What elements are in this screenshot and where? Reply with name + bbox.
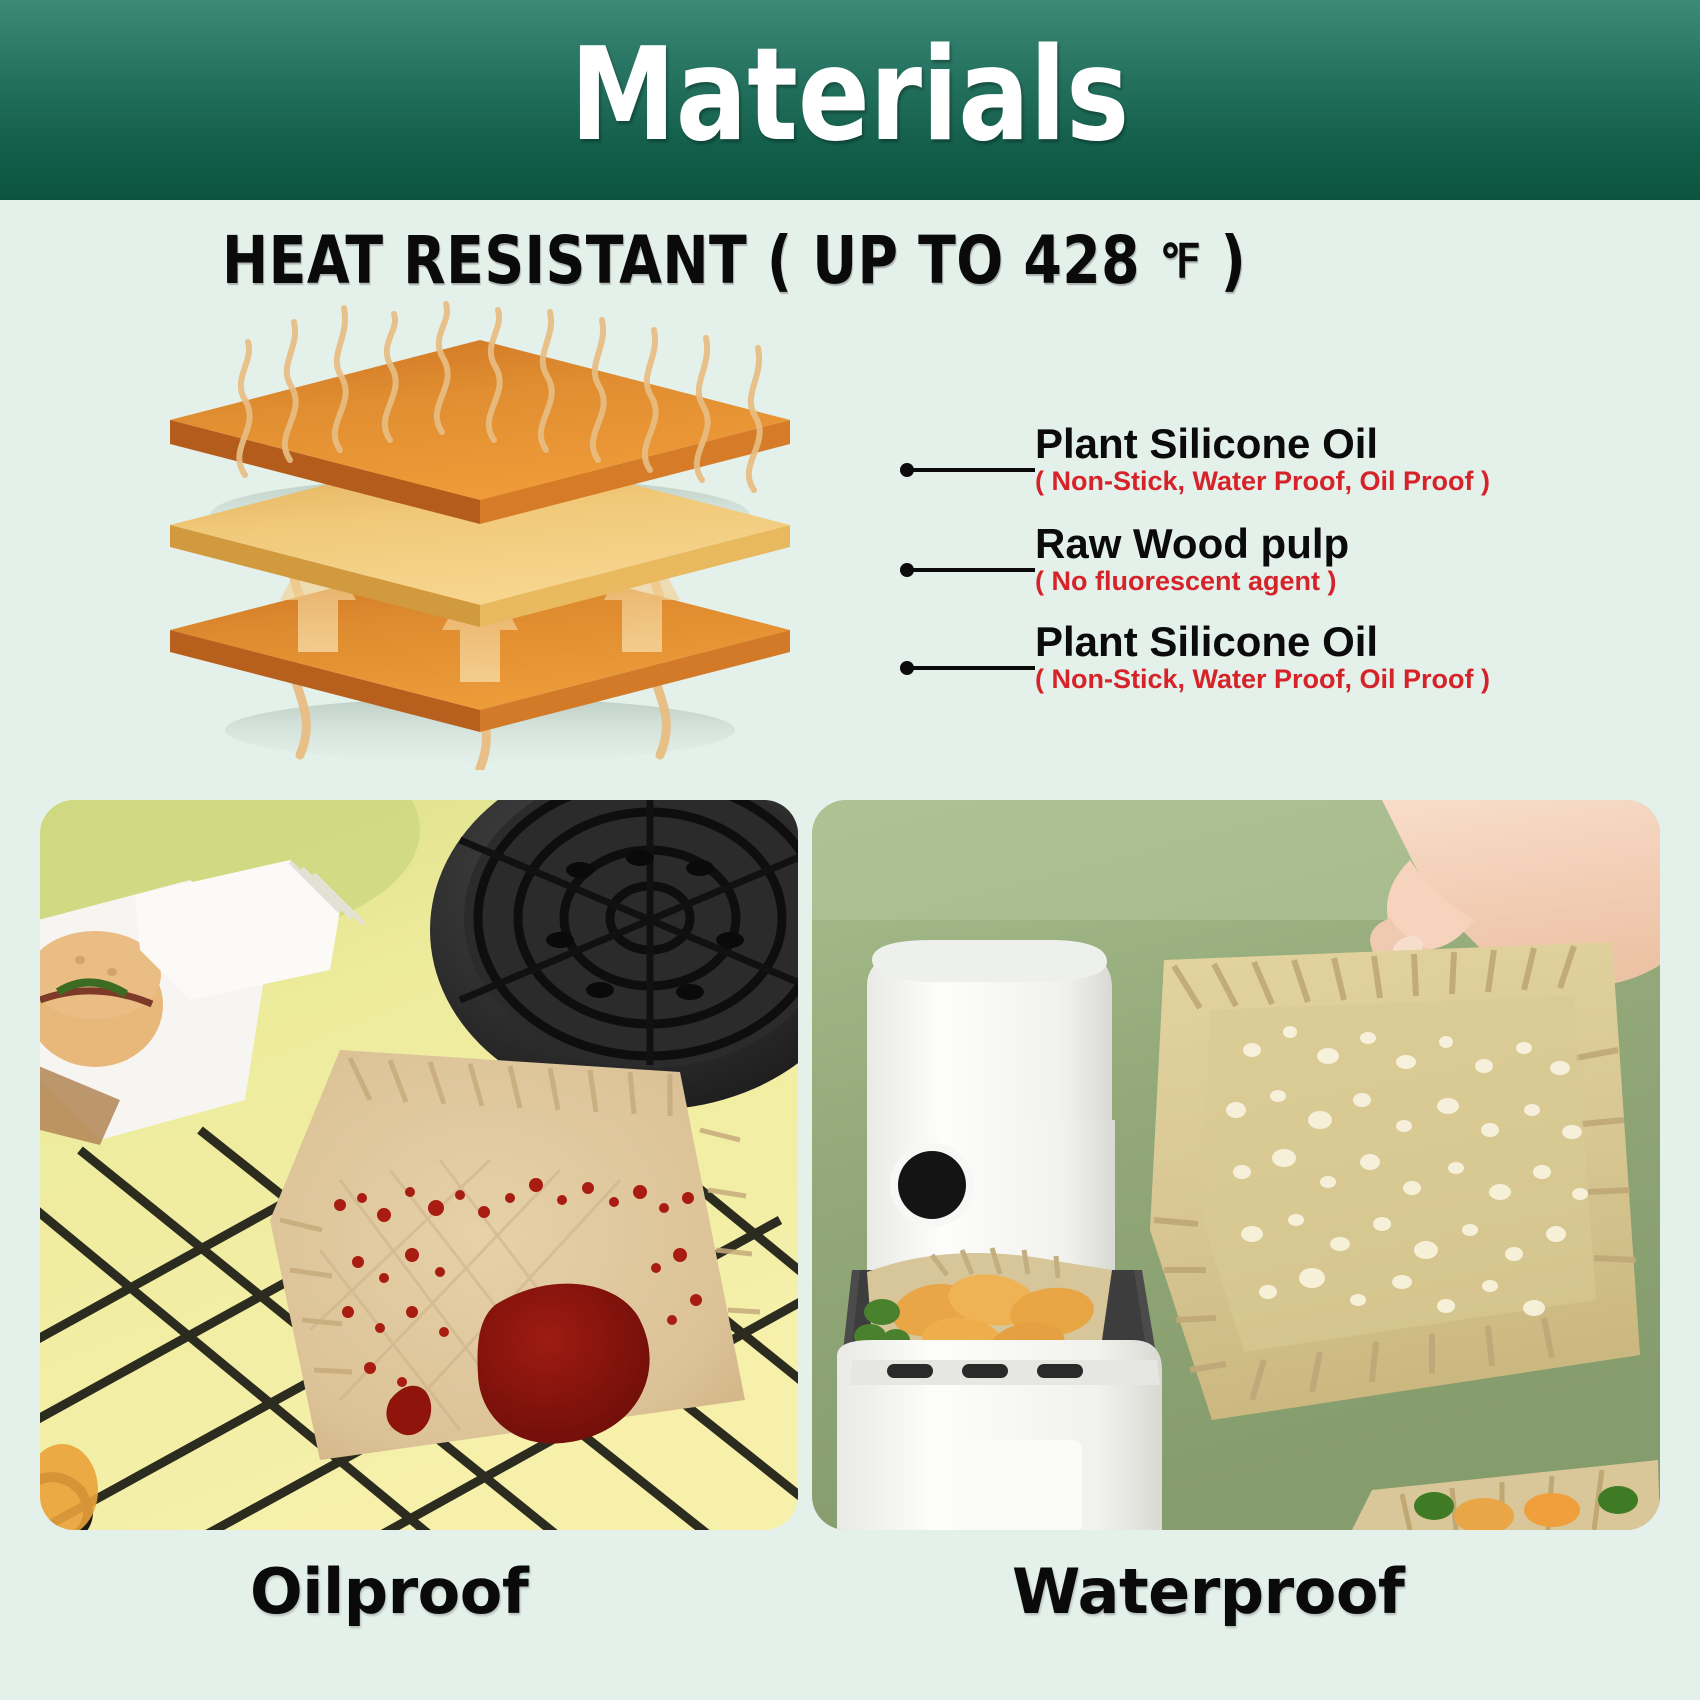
waterproof-photo <box>812 800 1660 1530</box>
callout-title: Plant Silicone Oil <box>1035 620 1490 664</box>
waterproof-liner <box>1150 942 1640 1420</box>
callout-title: Plant Silicone Oil <box>1035 422 1490 466</box>
callout-plant-silicone-oil-top: Plant Silicone Oil ( Non-Stick, Water Pr… <box>1035 422 1490 496</box>
leader-dot-2 <box>900 563 914 577</box>
layer-diagram <box>150 300 930 770</box>
oilproof-photo <box>40 800 798 1530</box>
headline-text-before: HEAT RESISTANT ( UP TO 428 <box>222 222 1160 299</box>
leader-dot-1 <box>900 463 914 477</box>
callout-subtitle: ( Non-Stick, Water Proof, Oil Proof ) <box>1035 467 1490 497</box>
callout-subtitle: ( Non-Stick, Water Proof, Oil Proof ) <box>1035 665 1490 695</box>
leader-line-1 <box>905 468 1035 472</box>
caption-waterproof: Waterproof <box>1012 1555 1404 1628</box>
leader-line-3 <box>905 666 1035 670</box>
heat-resistant-headline: HEAT RESISTANT ( UP TO 428 ℉ ) <box>222 222 1246 299</box>
leader-dot-3 <box>900 661 914 675</box>
callout-title: Raw Wood pulp <box>1035 522 1349 566</box>
callout-raw-wood-pulp: Raw Wood pulp ( No fluorescent agent ) <box>1035 522 1349 596</box>
page-title: Materials <box>571 32 1130 160</box>
callout-plant-silicone-oil-bottom: Plant Silicone Oil ( Non-Stick, Water Pr… <box>1035 620 1490 694</box>
header-banner: Materials <box>0 0 1700 200</box>
headline-text-after: ) <box>1201 222 1246 299</box>
parchment-liner-with-sauce <box>270 1050 760 1460</box>
caption-oilproof: Oilproof <box>250 1555 528 1628</box>
callout-subtitle: ( No fluorescent agent ) <box>1035 567 1349 597</box>
leader-line-2 <box>905 568 1035 572</box>
degree-fahrenheit-icon: ℉ <box>1160 236 1201 287</box>
